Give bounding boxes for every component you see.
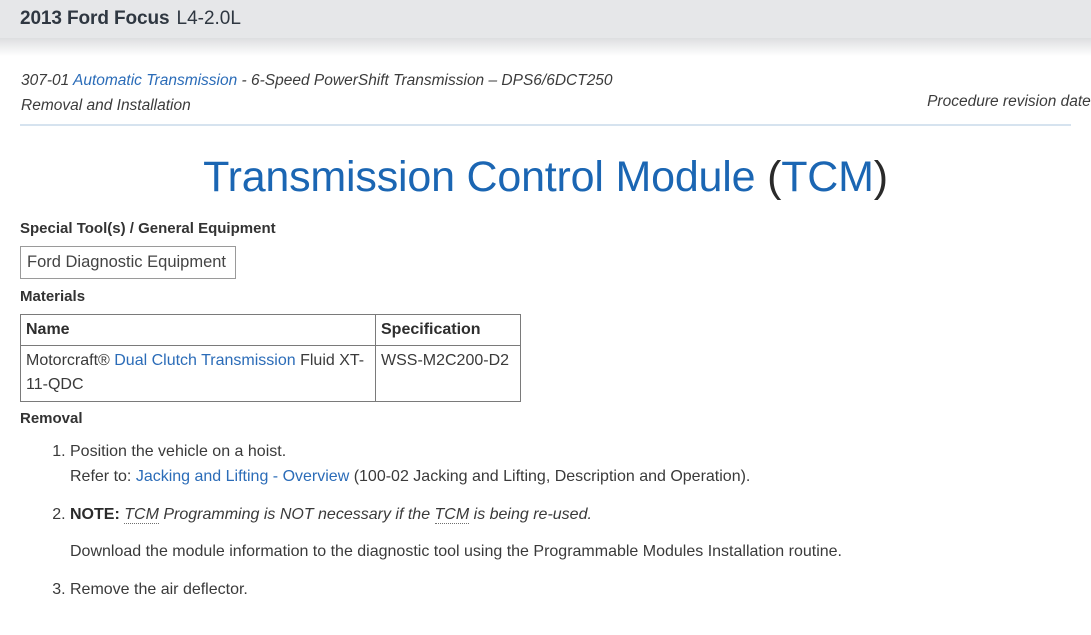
page-title-paren-open: ( xyxy=(767,153,781,201)
procedure-revision-date: Procedure revision date: 09/09/2013 xyxy=(927,93,1091,111)
step-2-paragraph: Download the module information to the d… xyxy=(70,539,1071,564)
refer-to-suffix: (100-02 Jacking and Lifting, Description… xyxy=(349,468,750,485)
list-item: Position the vehicle on a hoist. Refer t… xyxy=(70,439,1071,489)
abbreviation-tcm: TCM xyxy=(435,506,470,524)
breadcrumb-section-link[interactable]: Automatic Transmission xyxy=(73,72,237,89)
removal-steps-list: Position the vehicle on a hoist. Refer t… xyxy=(20,439,1071,602)
materials-table: Name Specification Motorcraft® Dual Clut… xyxy=(20,314,521,402)
page-title-main: Transmission Control Module xyxy=(203,153,767,201)
abbreviation-tcm: TCM xyxy=(124,506,159,524)
column-header-name: Name xyxy=(21,315,376,346)
refer-to-prefix: Refer to: xyxy=(70,468,136,485)
note-end-text: is being re-used. xyxy=(469,506,592,523)
page-title-abbreviation: TCM xyxy=(781,153,874,201)
special-tools-heading: Special Tool(s) / General Equipment xyxy=(20,219,1071,239)
column-header-specification: Specification xyxy=(376,315,521,346)
list-item: Remove the air deflector. xyxy=(70,577,1071,602)
step-1-text: Position the vehicle on a hoist. xyxy=(70,439,1071,464)
vehicle-header-bar: 2013 Ford Focus L4-2.0L xyxy=(0,0,1091,38)
vehicle-engine: L4-2.0L xyxy=(177,8,241,30)
header-gradient-fade xyxy=(0,38,1091,56)
note-label: NOTE: xyxy=(70,506,120,523)
material-name-prefix: Motorcraft® xyxy=(26,352,114,369)
document-content: Special Tool(s) / General Equipment Ford… xyxy=(0,219,1091,602)
refer-to-link[interactable]: Jacking and Lifting - Overview xyxy=(136,468,349,485)
breadcrumb: 307-01 Automatic Transmission - 6-Speed … xyxy=(0,56,1091,118)
breadcrumb-section-suffix: - 6-Speed PowerShift Transmission – DPS6… xyxy=(237,72,612,89)
breadcrumb-section-number: 307-01 xyxy=(21,72,69,89)
breadcrumb-section-line: 307-01 Automatic Transmission - 6-Speed … xyxy=(21,68,1091,93)
material-name-link[interactable]: Dual Clutch Transmission xyxy=(114,352,295,369)
cell-material-specification: WSS-M2C200-D2 xyxy=(376,346,521,402)
list-item: NOTE: TCM Programming is NOT necessary i… xyxy=(70,502,1071,564)
page-title-paren-close: ) xyxy=(874,153,888,201)
breadcrumb-divider xyxy=(20,124,1071,126)
materials-heading: Materials xyxy=(20,287,1071,307)
special-tool-item: Ford Diagnostic Equipment xyxy=(20,246,236,279)
vehicle-name: 2013 Ford Focus xyxy=(20,8,170,30)
page-title: Transmission Control Module (TCM) xyxy=(0,152,1091,202)
step-1-reference: Refer to: Jacking and Lifting - Overview… xyxy=(70,464,1071,489)
table-row: Motorcraft® Dual Clutch Transmission Flu… xyxy=(21,346,521,402)
step-2-note: NOTE: TCM Programming is NOT necessary i… xyxy=(70,502,1071,527)
note-middle-text: Programming is NOT necessary if the xyxy=(159,506,435,523)
removal-heading: Removal xyxy=(20,409,1071,429)
step-3-text: Remove the air deflector. xyxy=(70,577,1071,602)
cell-material-name: Motorcraft® Dual Clutch Transmission Flu… xyxy=(21,346,376,402)
table-header-row: Name Specification xyxy=(21,315,521,346)
